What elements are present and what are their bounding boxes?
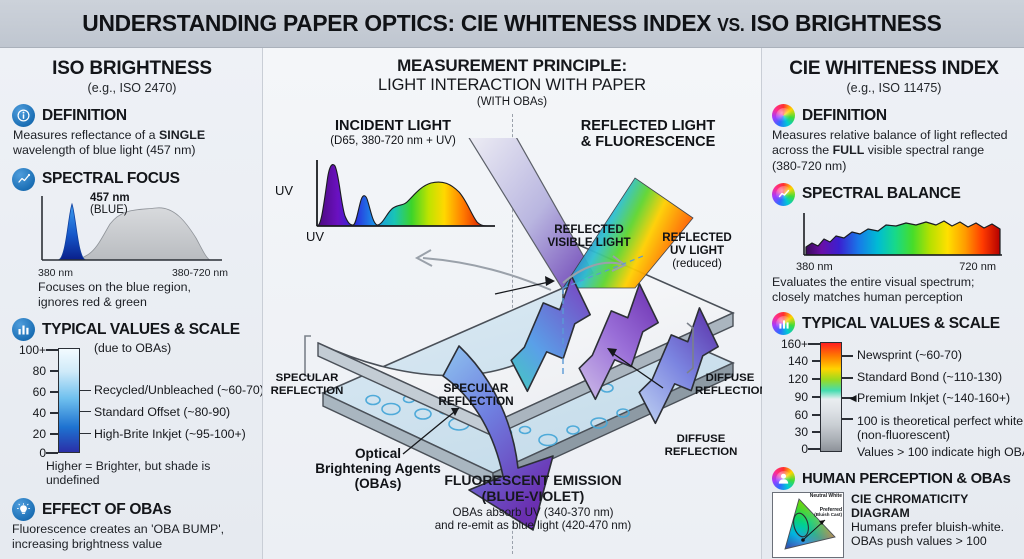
fluorescent-heading-line-2: (BLUE-VIOLET) bbox=[303, 488, 763, 504]
lightbulb-icon bbox=[12, 498, 35, 521]
cie-tick-60: 60 bbox=[795, 408, 808, 422]
iso-spectral-focus-section: SPECTRAL FOCUS bbox=[12, 168, 252, 311]
iso-scale-ticklabels: 100+ 80 60 40 20 0 bbox=[12, 345, 46, 455]
cie-tick-30: 30 bbox=[795, 425, 808, 439]
iso-peak-annotation: 457 nm (BLUE) bbox=[90, 192, 130, 216]
cie-tick-140: 140 bbox=[788, 354, 808, 368]
cie-definition-heading: DEFINITION bbox=[802, 107, 887, 125]
iso-tick-40: 40 bbox=[33, 406, 46, 420]
cie-panel-title: CIE WHITENESS INDEX bbox=[772, 58, 1016, 80]
iso-oba-effect-line-2: increasing brightness value bbox=[12, 537, 252, 552]
cie-spectral-balance-caption: Evaluates the entire visual spectrum; cl… bbox=[772, 275, 1016, 306]
incident-light-heading: INCIDENT LIGHT bbox=[293, 118, 493, 134]
reflected-light-heading-line-1: REFLECTED LIGHT bbox=[553, 118, 743, 134]
cie-typical-values-section: TYPICAL VALUES & SCALE 160+ 140 120 90 6… bbox=[772, 312, 1016, 457]
cie-tick-120: 120 bbox=[788, 372, 808, 386]
cie-scale-legend: Newsprint (~60-70) Standard Bond (~110-1… bbox=[857, 339, 1016, 457]
page-header: UNDERSTANDING PAPER OPTICS: CIE WHITENES… bbox=[0, 0, 1024, 48]
iso-scale-footnote: Higher = Brighter, but shade is undefine… bbox=[46, 459, 252, 487]
cie-chromaticity-diagram: Neutral White Preferred (Bluish Cast) bbox=[772, 492, 844, 558]
fluorescent-text-line-1: OBAs absorb UV (340-370 nm) bbox=[303, 506, 763, 519]
mid-title-line-1: MEASUREMENT PRINCIPLE: bbox=[263, 56, 761, 76]
page-title-part-1: UNDERSTANDING PAPER OPTICS: CIE WHITENES… bbox=[82, 10, 717, 36]
cie-diagram-annotations: Neutral White Preferred (Bluish Cast) bbox=[810, 494, 842, 517]
info-circle-icon bbox=[12, 104, 35, 127]
iso-spectral-focus-heading: SPECTRAL FOCUS bbox=[42, 170, 180, 188]
iso-definition-heading: DEFINITION bbox=[42, 107, 127, 125]
iso-scale-marker-ticks bbox=[80, 345, 91, 455]
iso-spectral-focus-plot bbox=[38, 194, 224, 266]
iso-peak-value: 457 nm bbox=[90, 192, 130, 204]
iso-tick-0: 0 bbox=[39, 446, 46, 460]
reflected-uv-line-2: UV LIGHT bbox=[651, 244, 743, 257]
iso-scale-left-ticks bbox=[46, 345, 58, 455]
iso-scale-chart: 100+ 80 60 40 20 0 bbox=[12, 345, 252, 455]
iso-panel-title: ISO BRIGHTNESS bbox=[12, 58, 252, 80]
page-title: UNDERSTANDING PAPER OPTICS: CIE WHITENES… bbox=[82, 10, 941, 37]
iso-legend-entry-1: Standard Offset (~80-90) bbox=[94, 405, 230, 419]
cie-legend-entry-2: Premium Inkjet (~140-160+) bbox=[857, 391, 1010, 405]
cie-panel-subtitle: (e.g., ISO 11475) bbox=[772, 81, 1016, 95]
diffuse-reflection-right-label: DIFFUSE REFLECTION bbox=[695, 372, 765, 398]
mid-panel-title: MEASUREMENT PRINCIPLE: LIGHT INTERACTION… bbox=[263, 48, 761, 108]
specular-reflection-left-label: SPECULAR REFLECTION bbox=[265, 372, 349, 398]
reflected-uv-line-3: (reduced) bbox=[651, 257, 743, 270]
iso-scale-gradient-bar bbox=[58, 348, 80, 453]
iso-typical-values-section: TYPICAL VALUES & SCALE 100+ 80 60 40 20 … bbox=[12, 318, 252, 487]
cie-typical-values-heading: TYPICAL VALUES & SCALE bbox=[802, 315, 1000, 333]
iso-definition-text-2: wavelength of blue light (457 nm) bbox=[13, 143, 196, 157]
cie-tick-90: 90 bbox=[795, 390, 808, 404]
color-wheel-bars-icon bbox=[772, 312, 795, 335]
oba-callout-line-1: Optical bbox=[283, 446, 473, 461]
specular-reflection-center-label: SPECULAR REFLECTION bbox=[421, 382, 531, 408]
reflected-visible-line-1: REFLECTED bbox=[541, 223, 637, 236]
cie-definition-section: DEFINITION Measures relative balance of … bbox=[772, 104, 1016, 174]
iso-axis-right-label: 380-720 nm bbox=[172, 267, 228, 279]
specular-left-line-2: REFLECTION bbox=[265, 385, 349, 398]
cie-definition-text: Measures relative balance of light refle… bbox=[772, 128, 1016, 174]
line-chart-icon bbox=[12, 168, 35, 191]
fluorescent-emission-caption: FLUORESCENT EMISSION (BLUE-VIOLET) OBAs … bbox=[303, 472, 763, 532]
fluorescent-text-line-2: and re-emit as blue light (420-470 nm) bbox=[303, 519, 763, 532]
cie-axis-right-label: 720 nm bbox=[959, 261, 996, 273]
measurement-principle-panel: MEASUREMENT PRINCIPLE: LIGHT INTERACTION… bbox=[262, 48, 762, 559]
specular-center-line-2: REFLECTION bbox=[421, 395, 531, 408]
iso-tick-60: 60 bbox=[33, 385, 46, 399]
diffuse-right-line-2: REFLECTION bbox=[695, 385, 765, 398]
iso-peak-sub: (BLUE) bbox=[90, 204, 130, 216]
specular-left-line-1: SPECULAR bbox=[265, 372, 349, 385]
cie-scale-ticklabels: 160+ 140 120 90 60 30 0 bbox=[772, 339, 808, 449]
cie-whiteness-panel: CIE WHITENESS INDEX (e.g., ISO 11475) DE… bbox=[762, 48, 1024, 559]
iso-panel-subtitle: (e.g., ISO 2470) bbox=[12, 81, 252, 95]
diffuse-reflection-lower-label: DIFFUSE REFLECTION bbox=[661, 433, 741, 459]
cie-scale-left-ticks bbox=[808, 339, 820, 454]
cie-tick-0: 0 bbox=[801, 442, 808, 456]
iso-chart-axis-ticks: 380 nm 380-720 nm bbox=[38, 267, 228, 279]
cie-caption-line-2: closely matches human perception bbox=[772, 290, 1016, 305]
iso-tick-20: 20 bbox=[33, 427, 46, 441]
cie-spectral-balance-section: SPECTRAL BALANCE bbox=[772, 183, 1016, 306]
mid-title-line-3: (WITH OBAs) bbox=[263, 96, 761, 108]
person-icon bbox=[772, 467, 795, 490]
cie-legend-entry-4: Values > 100 indicate high OBAs bbox=[857, 445, 1024, 459]
cie-legend-entry-3-line-2: (non-fluorescent) bbox=[857, 428, 950, 442]
cie-scale-gradient-bar bbox=[820, 342, 842, 452]
iso-axis-left-label: 380 nm bbox=[38, 267, 73, 279]
cie-human-perception-body: Neutral White Preferred (Bluish Cast) CI… bbox=[772, 492, 1016, 558]
cie-scale-chart: 160+ 140 120 90 60 30 0 bbox=[772, 339, 1016, 457]
iso-oba-effect-section: EFFECT OF OBAs Fluorescence creates an '… bbox=[12, 498, 252, 553]
cie-human-perception-text: CIE CHROMATICITY DIAGRAM Humans prefer b… bbox=[851, 492, 1016, 558]
reflected-visible-line-2: VISIBLE LIGHT bbox=[541, 236, 637, 249]
diffuse-low-line-1: DIFFUSE bbox=[661, 433, 741, 446]
iso-caption-line-2: ignores red & green bbox=[38, 295, 252, 310]
cie-tick-160: 160+ bbox=[781, 337, 808, 351]
iso-oba-effect-heading: EFFECT OF OBAs bbox=[42, 501, 171, 519]
reflected-uv-line-1: REFLECTED bbox=[651, 231, 743, 244]
iso-oba-effect-line-1: Fluorescence creates an 'OBA BUMP', bbox=[12, 522, 252, 537]
diffuse-right-line-1: DIFFUSE bbox=[695, 372, 765, 385]
iso-definition-text-bold: SINGLE bbox=[159, 128, 205, 142]
iso-scale-legend: (due to OBAs) Recycled/Unbleached (~60-7… bbox=[94, 345, 252, 455]
fluorescent-heading-line-1: FLUORESCENT EMISSION bbox=[303, 472, 763, 488]
cie-perception-line-2: OBAs push values > 100 bbox=[851, 534, 1016, 548]
mid-title-line-2: LIGHT INTERACTION WITH PAPER bbox=[263, 76, 761, 95]
iso-legend-entry-2: High-Brite Inkjet (~95-100+) bbox=[94, 427, 246, 441]
iso-caption-line-1: Focuses on the blue region, bbox=[38, 280, 252, 295]
cie-caption-line-1: Evaluates the entire visual spectrum; bbox=[772, 275, 1016, 290]
iso-tick-100: 100+ bbox=[19, 343, 46, 357]
iso-definition-text-1: Measures reflectance of a bbox=[13, 128, 159, 142]
iso-definition-text: Measures reflectance of a SINGLE wavelen… bbox=[13, 128, 252, 159]
color-wheel-icon bbox=[772, 104, 795, 127]
cie-human-perception-heading: HUMAN PERCEPTION & OBAs bbox=[802, 471, 1011, 487]
cie-spectral-balance-heading: SPECTRAL BALANCE bbox=[802, 185, 961, 203]
cie-definition-text-bold: FULL bbox=[833, 143, 865, 157]
iso-scale-note: (due to OBAs) bbox=[94, 341, 171, 355]
page-title-vs: VS. bbox=[717, 15, 744, 35]
iso-definition-section: DEFINITION Measures reflectance of a SIN… bbox=[12, 104, 252, 159]
cie-axis-left-label: 380 nm bbox=[796, 261, 833, 273]
iso-spectral-focus-caption: Focuses on the blue region, ignores red … bbox=[38, 280, 252, 311]
cie-legend-entry-0: Newsprint (~60-70) bbox=[857, 348, 962, 362]
bar-chart-icon bbox=[12, 318, 35, 341]
iso-oba-effect-text: Fluorescence creates an 'OBA BUMP', incr… bbox=[12, 522, 252, 553]
cie-perception-line-1: Humans prefer bluish-white. bbox=[851, 520, 1016, 534]
iso-spectral-focus-chart: 457 nm (BLUE) bbox=[38, 194, 224, 266]
iso-tick-80: 80 bbox=[33, 364, 46, 378]
iso-legend-entry-0: Recycled/Unbleached (~60-70) bbox=[94, 383, 264, 397]
reflected-visible-light-label: REFLECTED VISIBLE LIGHT bbox=[541, 223, 637, 249]
cie-diagram-label-neutral: Neutral White bbox=[810, 494, 842, 499]
cie-legend-entry-1: Standard Bond (~110-130) bbox=[857, 370, 1002, 384]
page-title-part-2: ISO BRIGHTNESS bbox=[745, 10, 942, 36]
cie-diagram-title: CIE CHROMATICITY DIAGRAM bbox=[851, 492, 1016, 520]
cie-premium-inkjet-arrow-icon: ◄ bbox=[847, 391, 859, 405]
iso-brightness-panel: ISO BRIGHTNESS (e.g., ISO 2470) DEFINITI… bbox=[0, 48, 262, 559]
cie-diagram-label-bluish: (Bluish Cast) bbox=[810, 513, 842, 518]
iso-typical-values-heading: TYPICAL VALUES & SCALE bbox=[42, 321, 240, 339]
color-wheel-chart-icon bbox=[772, 183, 795, 206]
cie-spectral-balance-chart bbox=[794, 209, 1016, 261]
cie-legend-entry-3-line-1: 100 is theoretical perfect white bbox=[857, 414, 1023, 428]
cie-chart-axis-ticks: 380 nm 720 nm bbox=[796, 261, 996, 273]
cie-human-perception-section: HUMAN PERCEPTION & OBAs bbox=[772, 467, 1016, 559]
diffuse-low-line-2: REFLECTION bbox=[661, 446, 741, 459]
reflected-uv-light-label: REFLECTED UV LIGHT (reduced) bbox=[651, 231, 743, 270]
